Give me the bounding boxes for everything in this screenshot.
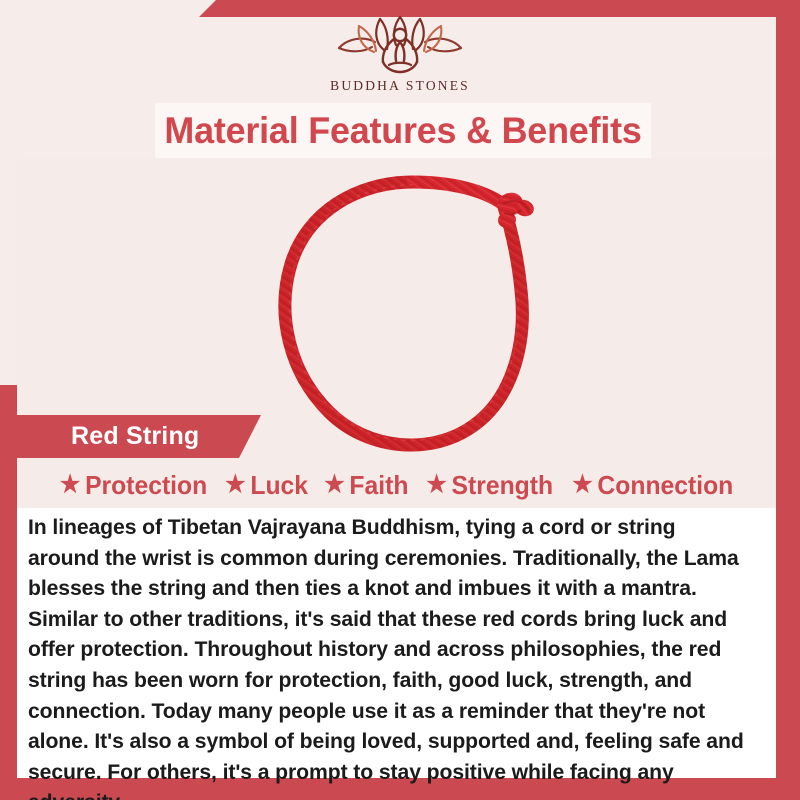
brand-logo: BUDDHA STONES [0,14,800,100]
benefit-faith: ★ Faith [318,470,414,501]
product-name-banner: Red String [17,415,261,458]
star-icon: ★ [59,473,79,497]
benefit-connection: ★ Connection [566,470,738,501]
benefit-label: Connection [597,470,733,501]
benefit-protection: ★ Protection [54,470,213,501]
benefit-label: Faith [349,470,408,501]
description-card: In lineages of Tibetan Vajrayana Buddhis… [17,508,776,778]
benefits-row: ★ Protection ★ Luck ★ Faith ★ Strength ★… [17,463,776,507]
description-paragraph: In lineages of Tibetan Vajrayana Buddhis… [28,512,747,800]
benefit-label: Protection [85,470,207,501]
page-title: Material Features & Benefits [164,110,641,152]
red-string-bracelet-image [245,164,585,464]
benefit-strength: ★ Strength [420,470,558,501]
title-plate: Material Features & Benefits [155,103,651,158]
star-icon: ★ [572,473,592,497]
infographic-page: BUDDHA STONES Material Features & Benefi… [0,0,800,800]
benefit-label: Strength [451,470,553,501]
benefit-luck: ★ Luck [219,470,313,501]
left-accent-band [0,385,17,800]
right-accent-band [776,0,800,800]
star-icon: ★ [225,473,245,497]
lotus-meditation-figure-icon [334,14,466,76]
star-icon: ★ [426,473,446,497]
product-name-label: Red String [71,422,199,451]
benefit-label: Luck [250,470,308,501]
brand-wordmark: BUDDHA STONES [330,78,470,94]
star-icon: ★ [324,473,344,497]
